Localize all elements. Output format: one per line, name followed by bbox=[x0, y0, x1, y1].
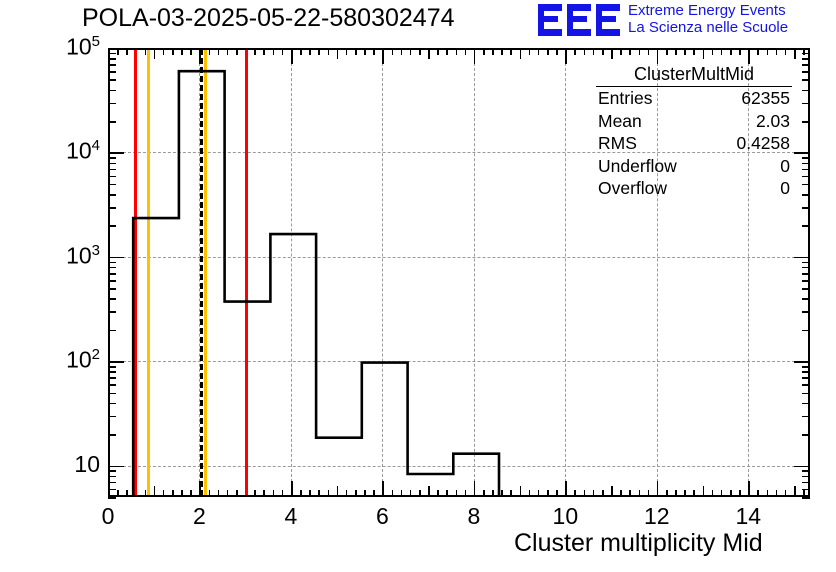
stats-row: Mean2.03 bbox=[596, 110, 792, 133]
stats-label: Entries bbox=[598, 87, 652, 110]
stats-title: ClusterMultMid bbox=[596, 64, 792, 87]
stats-label: Underflow bbox=[598, 155, 677, 178]
stats-box: ClusterMultMid Entries62355Mean2.03RMS0.… bbox=[596, 64, 792, 200]
stats-value: 62355 bbox=[741, 87, 790, 110]
stats-row: Overflow0 bbox=[596, 177, 792, 200]
stats-label: Mean bbox=[598, 110, 642, 133]
stats-label: Overflow bbox=[598, 177, 667, 200]
stats-row: Underflow0 bbox=[596, 155, 792, 178]
stats-value: 0.4258 bbox=[736, 132, 790, 155]
stats-value: 0 bbox=[780, 155, 790, 178]
stats-row: RMS0.4258 bbox=[596, 132, 792, 155]
x-axis-title: Cluster multiplicity Mid bbox=[514, 529, 763, 558]
stats-value: 0 bbox=[780, 177, 790, 200]
stats-row: Entries62355 bbox=[596, 87, 792, 110]
stats-label: RMS bbox=[598, 132, 637, 155]
stats-value: 2.03 bbox=[756, 110, 790, 133]
plot-canvas: POLA-03-2025-05-22-580302474 Extreme Ene… bbox=[0, 0, 836, 572]
